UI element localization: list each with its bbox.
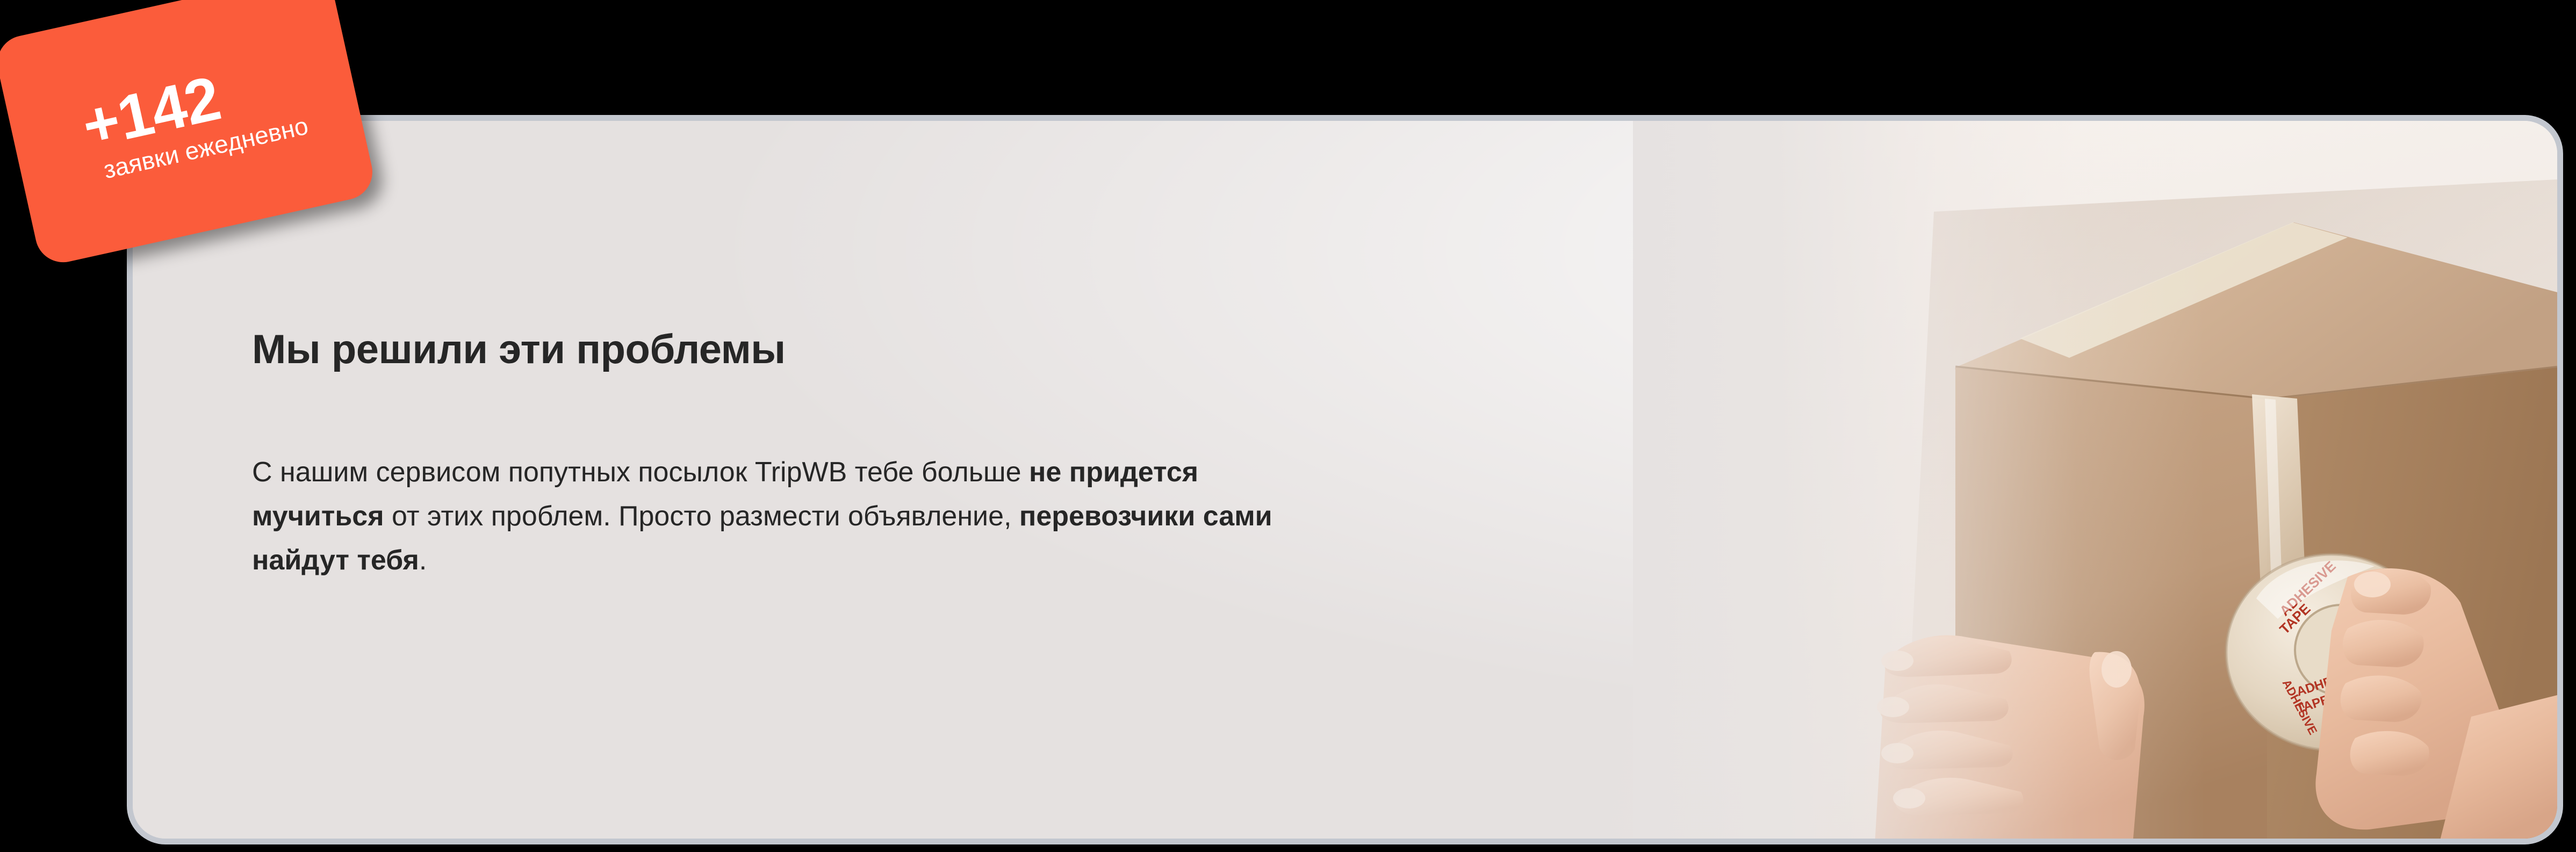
paragraph-segment-4: .	[419, 545, 427, 576]
svg-text:TAPE: TAPE	[2295, 692, 2332, 717]
promo-card: ADHESIVE TAPE ADHESIVE TAPE ADHESIVE	[127, 115, 2563, 844]
card-content: Мы решили эти проблемы С нашим сервисом …	[252, 328, 1595, 583]
page-title: Мы решили эти проблемы	[252, 328, 1595, 371]
description-paragraph: С нашим сервисом попутных посылок TripWB…	[252, 371, 1327, 582]
svg-text:TAPE: TAPE	[2276, 601, 2313, 637]
paragraph-segment-0: С нашим сервисом попутных посылок TripWB…	[252, 457, 1029, 488]
svg-text:ADHESIVE: ADHESIVE	[2280, 677, 2320, 737]
svg-text:ADHESIVE: ADHESIVE	[2295, 665, 2362, 699]
svg-text:ADHESIVE: ADHESIVE	[2276, 558, 2338, 619]
paragraph-segment-2: от этих проблем. Просто размести объявле…	[384, 501, 1019, 532]
promo-banner: ADHESIVE TAPE ADHESIVE TAPE ADHESIVE	[0, 0, 2576, 852]
package-taping-photo: ADHESIVE TAPE ADHESIVE TAPE ADHESIVE	[1633, 121, 2557, 839]
